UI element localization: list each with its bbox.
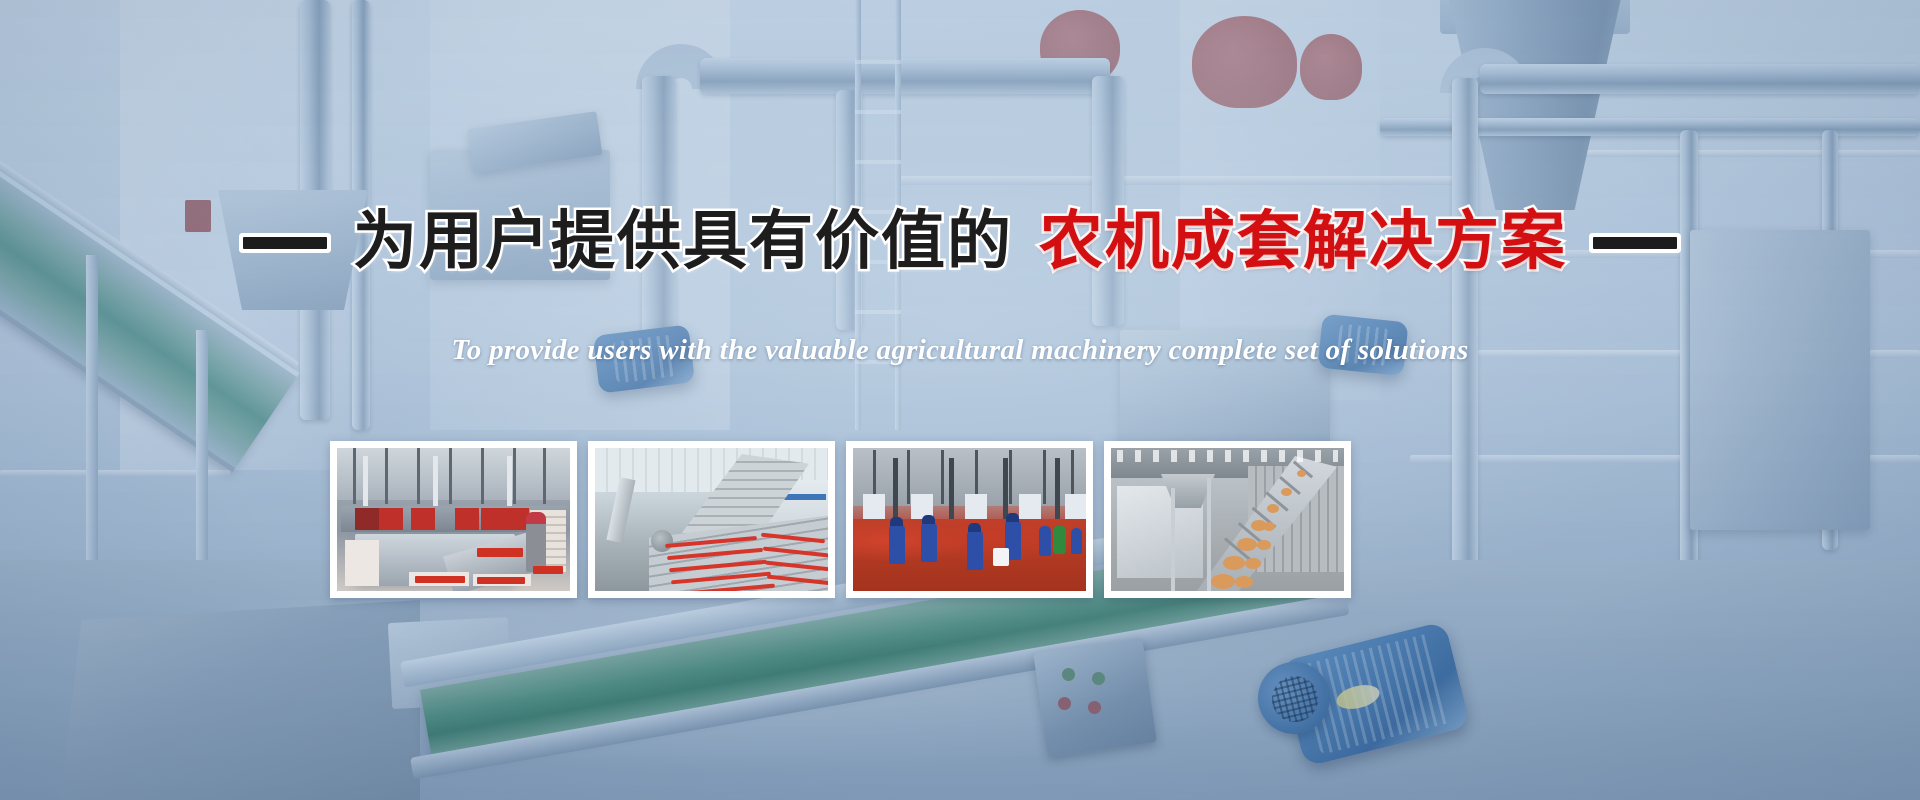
thumbnail-1[interactable] xyxy=(330,441,577,598)
thumbnail-3[interactable] xyxy=(846,441,1093,598)
thumbnail-3-image xyxy=(853,448,1086,591)
thumbnail-2-image xyxy=(595,448,828,591)
headline-text-dark: 为用户提供具有价值的 xyxy=(353,209,1013,276)
thumbnail-1-image xyxy=(337,448,570,591)
headline-right-rule xyxy=(1593,237,1677,249)
thumbnail-4-image xyxy=(1111,448,1344,591)
thumbnail-2[interactable] xyxy=(588,441,835,598)
headline-text-red: 农机成套解决方案 xyxy=(1039,209,1567,276)
headline: 为用户提供具有价值的 农机成套解决方案 xyxy=(0,209,1920,276)
thumbnail-4[interactable] xyxy=(1104,441,1351,598)
thumbnail-gallery xyxy=(330,441,1351,598)
hero-banner: 为用户提供具有价值的 农机成套解决方案 To provide users wit… xyxy=(0,0,1920,800)
banner-content: 为用户提供具有价值的 农机成套解决方案 To provide users wit… xyxy=(0,0,1920,800)
headline-left-rule xyxy=(243,237,327,249)
subtitle-english: To provide users with the valuable agric… xyxy=(0,334,1920,367)
